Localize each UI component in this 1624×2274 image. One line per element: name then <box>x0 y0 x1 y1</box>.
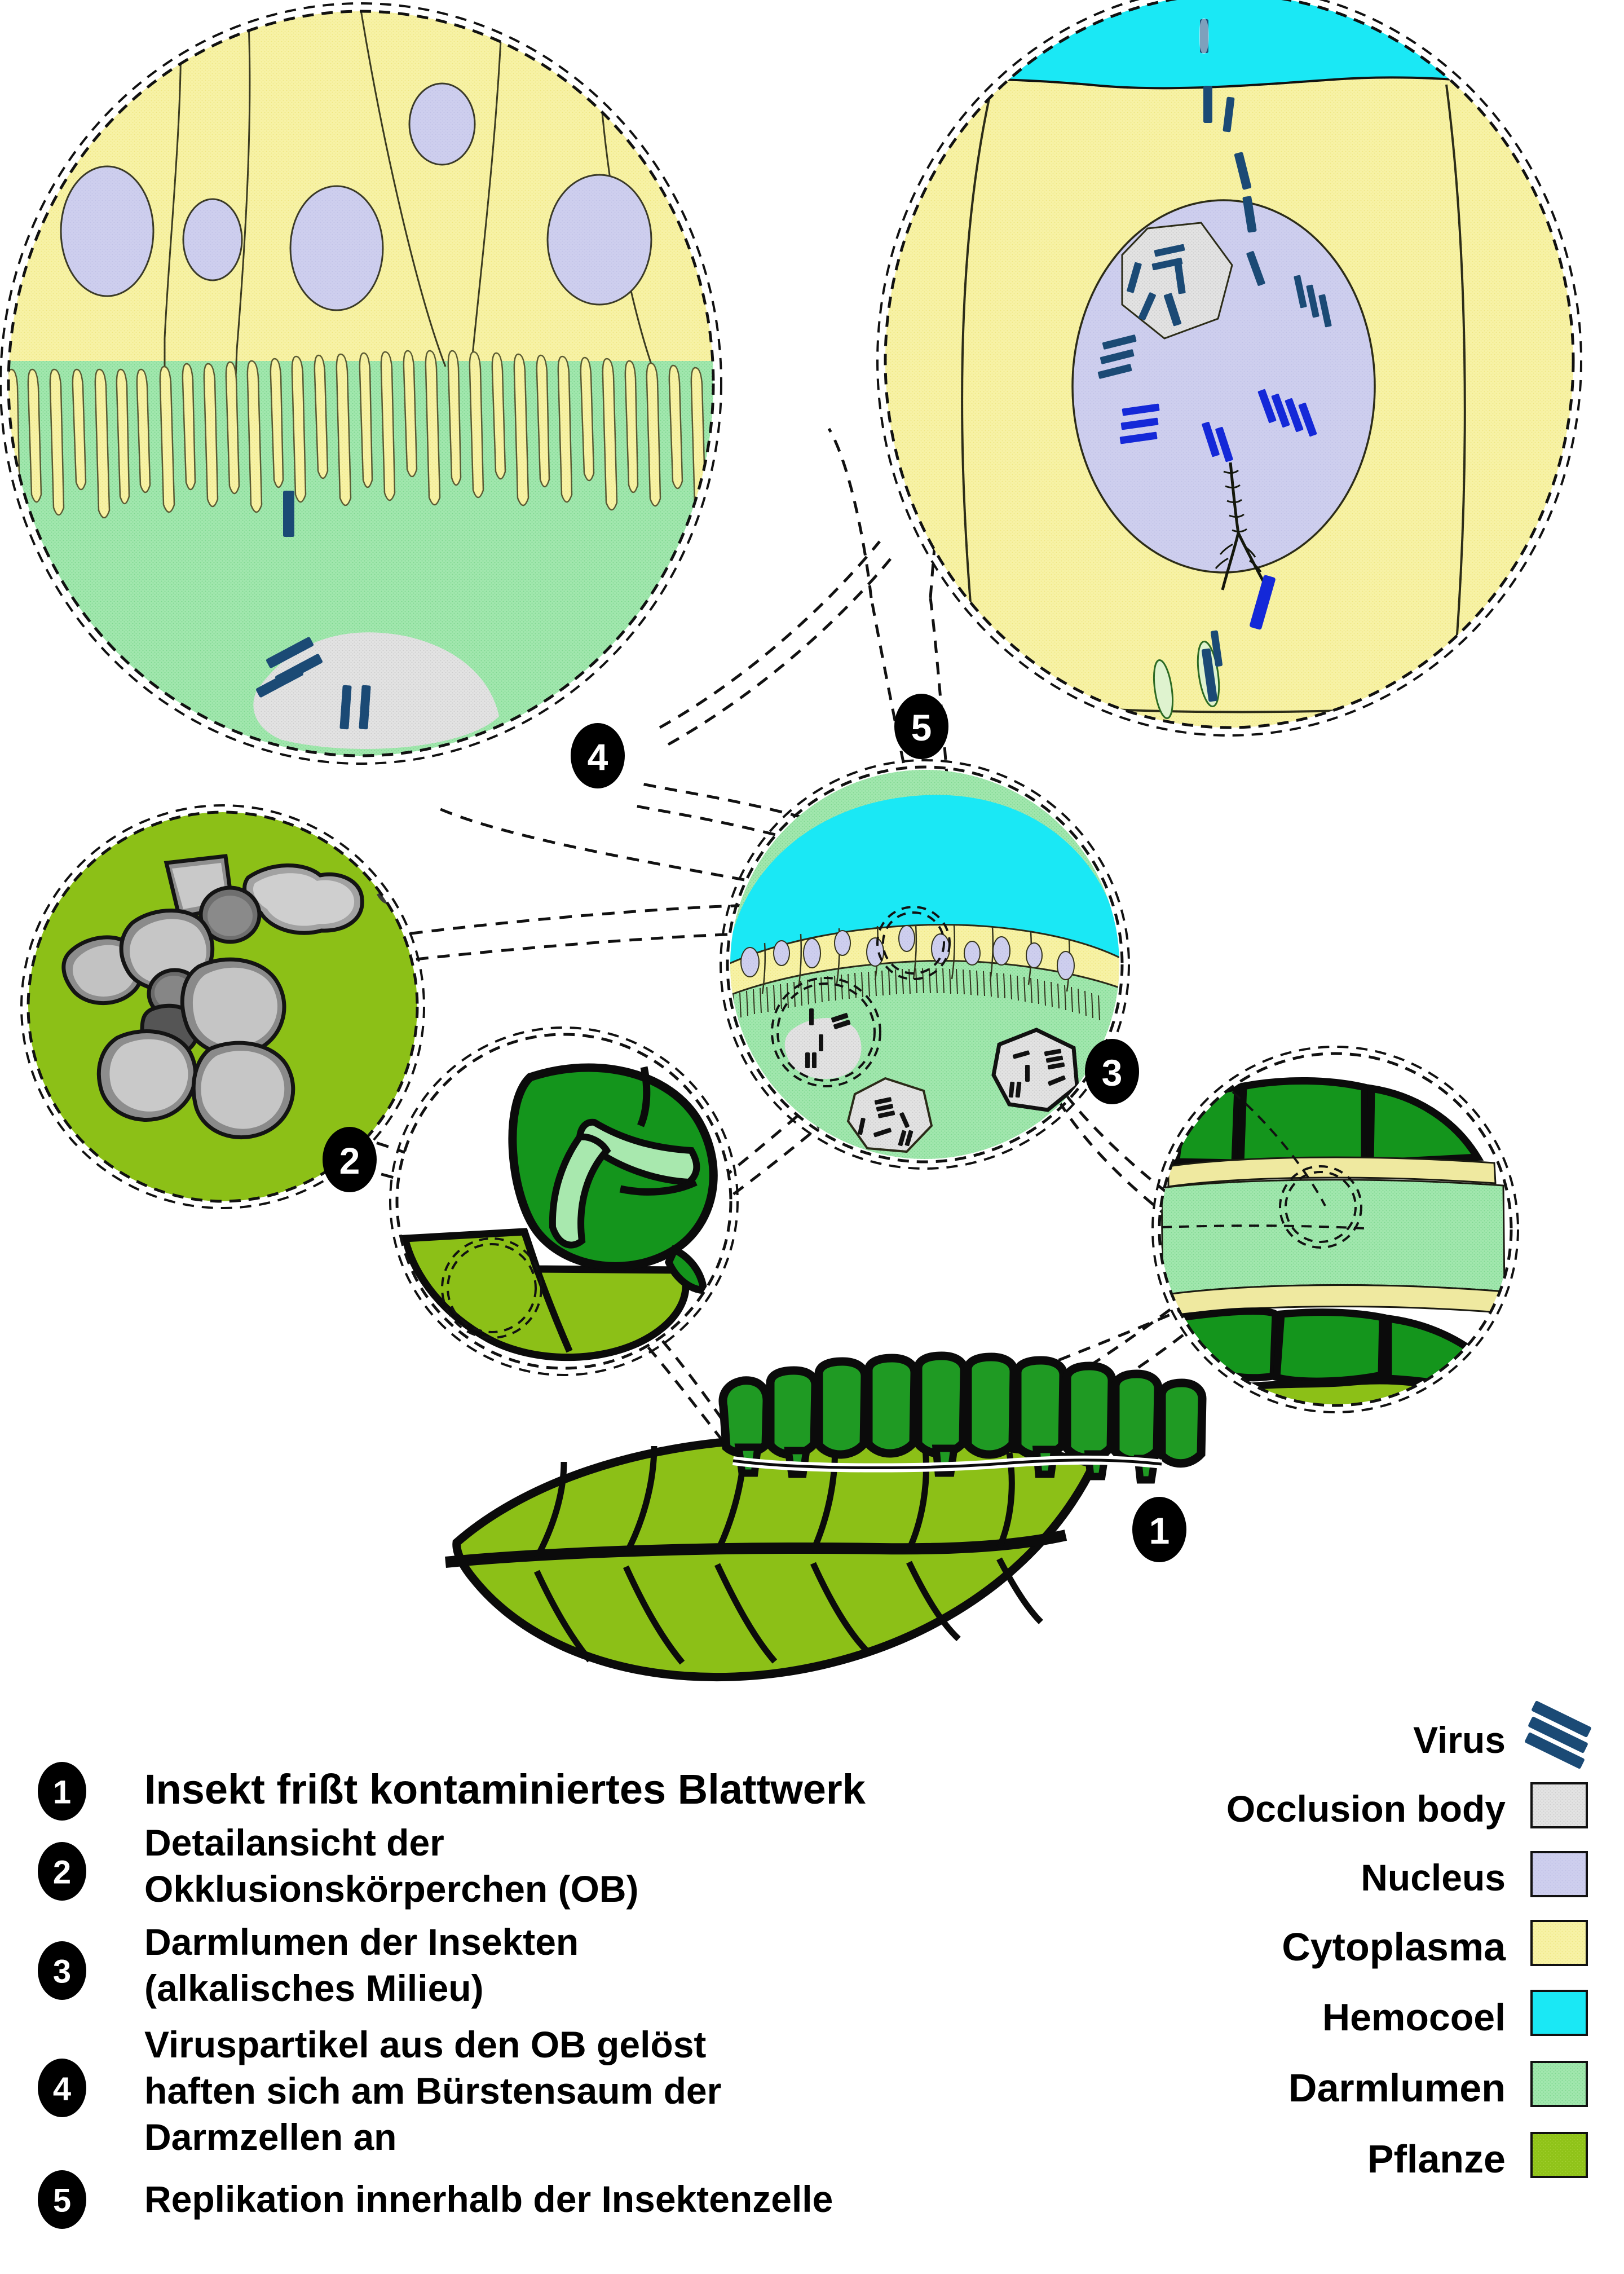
figure-canvas: 1 2 3 4 5 1 Insekt frißt kontaminiertes … <box>0 0 1624 2274</box>
key-item-occlusion-body[interactable]: Occlusion body <box>1226 1783 1587 1830</box>
key-label-occlusion-body: Occlusion body <box>1226 1788 1506 1830</box>
key-label-virus: Virus <box>1413 1719 1506 1761</box>
panel-replication-cell <box>877 0 1596 778</box>
panel-gut-lumen <box>721 760 1129 1169</box>
ingested-leaf <box>1206 1381 1466 1434</box>
legend-step-2-line-1: Detailansicht der <box>144 1822 444 1863</box>
gut-lumen-section <box>1162 1180 1504 1295</box>
badge-2-label: 2 <box>339 1140 360 1182</box>
legend-step-5[interactable]: 5 Replikation innerhalb der Insektenzell… <box>38 2170 833 2229</box>
legend-step-4-line-2: haften sich am Bürstensaum der <box>144 2070 721 2112</box>
key-item-pflanze[interactable]: Pflanze <box>1367 2133 1587 2181</box>
legend-step-5-line-1: Replikation innerhalb der Insektenzelle <box>144 2178 833 2220</box>
steps-legend: 1 Insekt frißt kontaminiertes Blattwerk … <box>38 1762 866 2229</box>
key-swatch-hemocoel <box>1532 1991 1587 2035</box>
legend-step-2-line-2: Okklusionskörperchen (OB) <box>144 1868 639 1910</box>
badge-4[interactable]: 4 <box>571 723 625 788</box>
key-label-pflanze: Pflanze <box>1367 2137 1506 2181</box>
legend-step-4-line-1: Viruspartikel aus den OB gelöst <box>144 2024 706 2065</box>
hemocoel-region <box>880 0 1596 96</box>
key-item-virus[interactable]: Virus <box>1413 1700 1592 1769</box>
diagram-svg: 1 2 3 4 5 1 Insekt frißt kontaminiertes … <box>0 0 1624 2274</box>
legend-step-3-line-2: (alkalisches Milieu) <box>144 1967 484 2009</box>
legend-step-3[interactable]: 3 Darmlumen der Insekten (alkalisches Mi… <box>38 1921 579 2009</box>
legend-step-1-line-1: Insekt frißt kontaminiertes Blattwerk <box>144 1766 866 1813</box>
key-label-hemocoel: Hemocoel <box>1322 1996 1506 2039</box>
badge-2[interactable]: 2 <box>323 1127 377 1192</box>
legend-badge-2-label: 2 <box>53 1854 71 1891</box>
legend-step-1[interactable]: 1 Insekt frißt kontaminiertes Blattwerk <box>38 1762 866 1821</box>
occlusion-body-intact-2 <box>994 1030 1077 1110</box>
legend-step-4-line-3: Darmzellen an <box>144 2116 397 2158</box>
legend-badge-3-label: 3 <box>53 1954 71 1990</box>
key-swatch-cytoplasma <box>1532 1921 1587 1965</box>
virus-bars-icon <box>1524 1700 1592 1769</box>
key-item-nucleus[interactable]: Nucleus <box>1361 1852 1587 1898</box>
key-label-darmlumen: Darmlumen <box>1288 2066 1506 2110</box>
panel-larva-head <box>390 1028 738 1375</box>
badge-4-label: 4 <box>588 736 608 778</box>
legend-step-3-line-1: Darmlumen der Insekten <box>144 1921 579 1963</box>
key-label-nucleus: Nucleus <box>1361 1857 1506 1898</box>
virus-rod <box>283 491 294 537</box>
legend-step-4[interactable]: 4 Viruspartikel aus den OB gelöst haften… <box>38 2024 721 2158</box>
key-item-cytoplasma[interactable]: Cytoplasma <box>1282 1921 1587 1969</box>
legend-step-2[interactable]: 2 Detailansicht der Okklusionskörperchen… <box>38 1822 639 1910</box>
panel-brush-border <box>0 0 733 790</box>
key-label-cytoplasma: Cytoplasma <box>1282 1925 1506 1969</box>
legend-badge-4-label: 4 <box>53 2071 71 2108</box>
panel-insect-on-leaf <box>445 1356 1202 1677</box>
badge-3[interactable]: 3 <box>1085 1039 1139 1104</box>
badge-5-label: 5 <box>911 707 932 748</box>
legend-badge-1-label: 1 <box>53 1774 71 1811</box>
key-item-darmlumen[interactable]: Darmlumen <box>1288 2062 1587 2110</box>
key-item-hemocoel[interactable]: Hemocoel <box>1322 1991 1587 2039</box>
key-swatch-nucleus <box>1532 1852 1587 1896</box>
legend-badge-5-label: 5 <box>53 2183 71 2219</box>
badge-5[interactable]: 5 <box>894 694 948 759</box>
badge-1[interactable]: 1 <box>1132 1497 1186 1562</box>
key-legend: Virus Occlusion body Nucleus Cytoplasma … <box>1226 1700 1592 2181</box>
badge-3-label: 3 <box>1102 1052 1123 1094</box>
badge-1-label: 1 <box>1149 1510 1170 1552</box>
key-swatch-occlusion-body <box>1532 1783 1587 1827</box>
panel-larva-cross-section <box>1153 1047 1518 1434</box>
key-swatch-darmlumen <box>1532 2062 1587 2106</box>
key-swatch-pflanze <box>1532 2133 1587 2177</box>
